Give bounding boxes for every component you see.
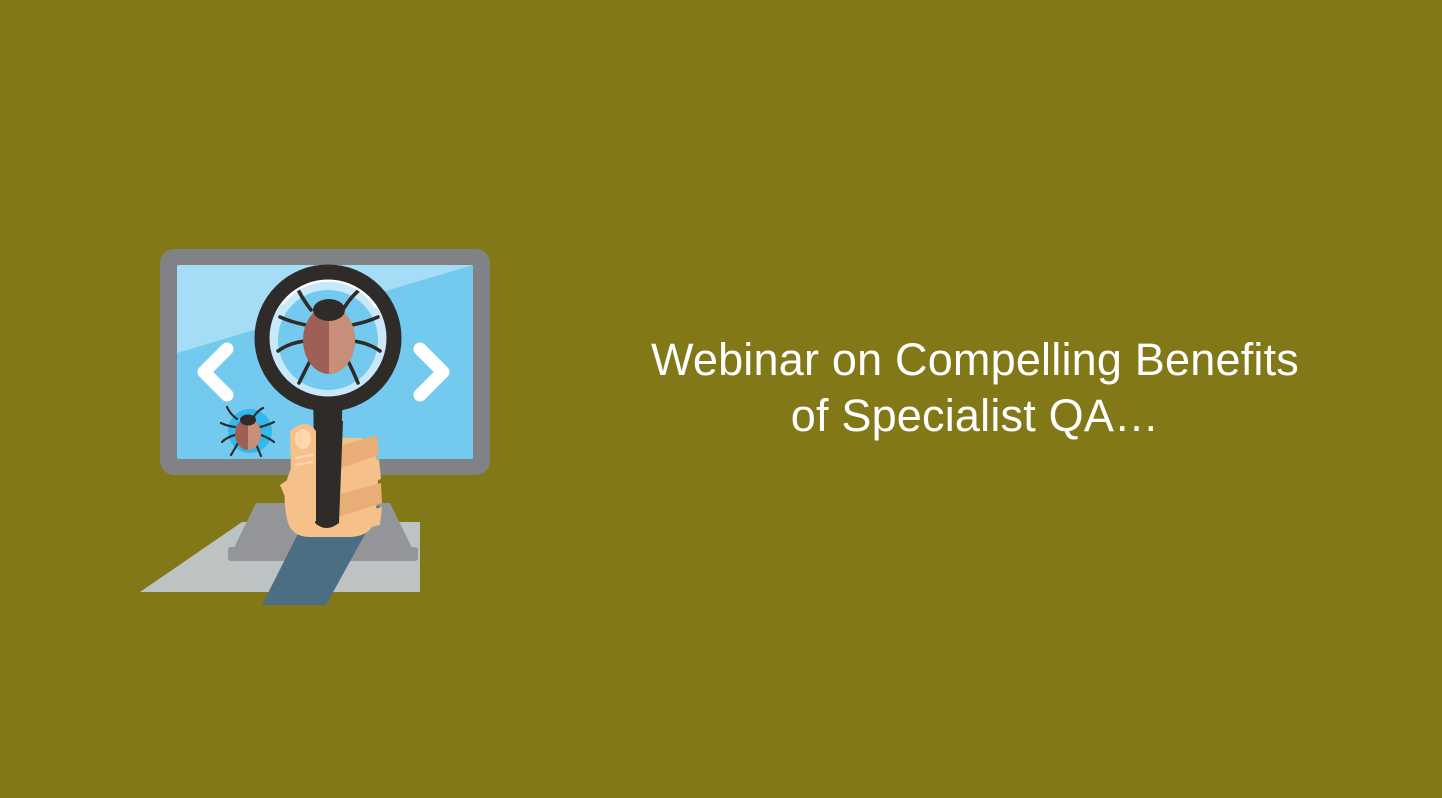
page-title: Webinar on Compelling Benefits of Specia…	[560, 332, 1390, 444]
page-title-line-1: Webinar on Compelling Benefits	[560, 332, 1390, 388]
page-title-line-2: of Specialist QA…	[560, 388, 1390, 444]
bug-testing-illustration	[130, 235, 500, 605]
magnified-bug-head	[313, 299, 345, 321]
hand-group	[285, 421, 382, 537]
magnifier-handle-front	[315, 421, 343, 528]
small-bug-head	[240, 415, 256, 426]
fingers-group	[336, 435, 382, 535]
slide-canvas: Webinar on Compelling Benefits of Specia…	[0, 0, 1442, 798]
thumbnail	[295, 429, 311, 449]
